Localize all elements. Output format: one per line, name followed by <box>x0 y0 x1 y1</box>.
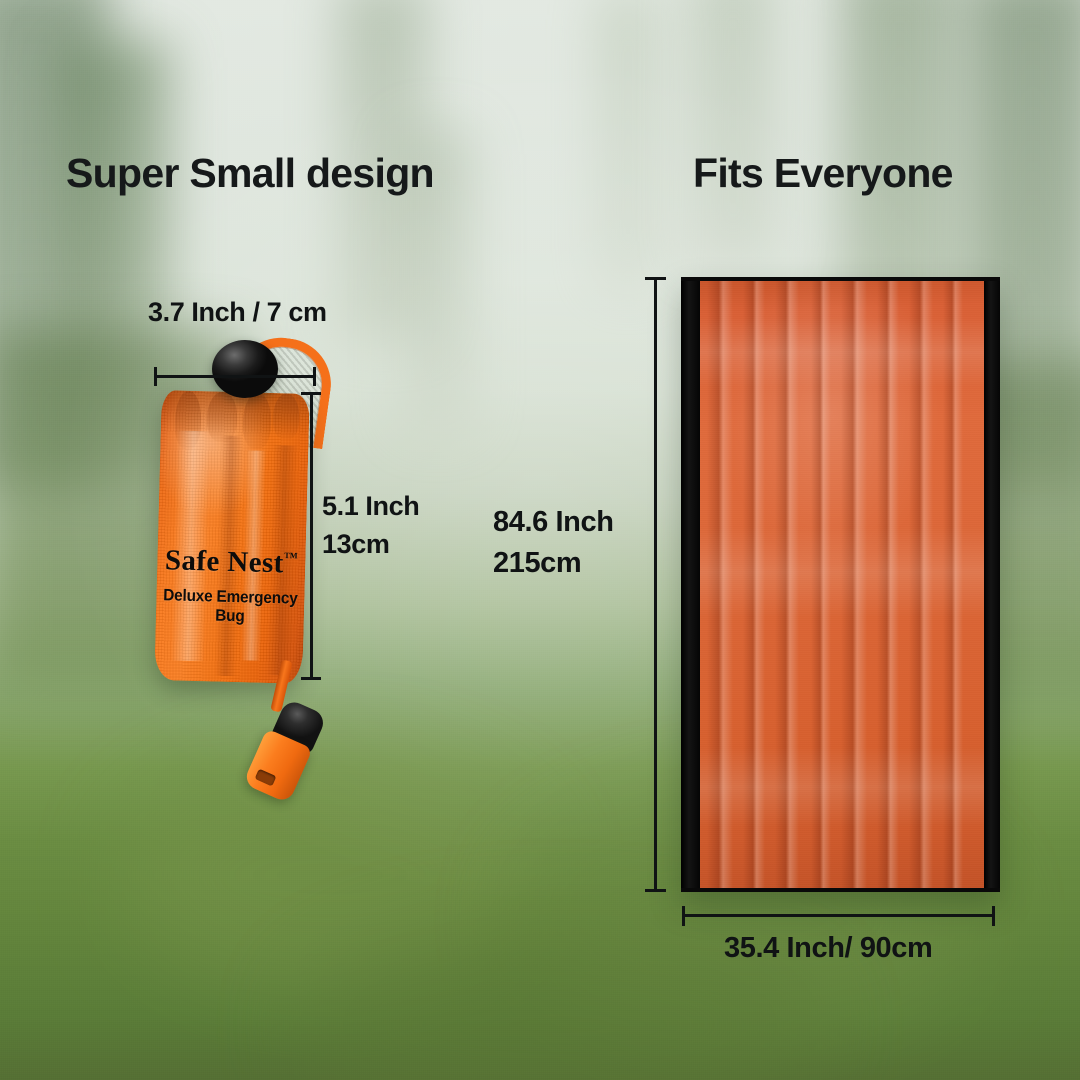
sleeping-bag-height-label: 84.6 Inch 215cm <box>493 502 614 584</box>
sleeping-bag-width-rule <box>682 914 995 917</box>
sack-height-rule <box>310 392 313 680</box>
sleeping-bag-height-label-cm: 215cm <box>493 543 614 584</box>
sack-width-rule <box>154 375 316 378</box>
cord-lock-toggle <box>212 340 278 398</box>
sack-height-rule-cap-bottom <box>301 677 321 680</box>
sleeping-bag-edge-left <box>681 277 700 892</box>
sack-width-label: 3.7 Inch / 7 cm <box>148 293 327 331</box>
sleeping-bag-top-seam <box>681 277 1000 281</box>
page-title-right: Fits Everyone <box>693 150 953 197</box>
page-title-left: Super Small design <box>66 150 434 197</box>
sack-height-label: 5.1 Inch 13cm <box>322 487 419 564</box>
sleeping-bag-height-rule-cap-bottom <box>645 889 666 892</box>
sleeping-bag-width-label: 35.4 Inch/ 90cm <box>724 928 932 969</box>
sleeping-bag-height-label-inches: 84.6 Inch <box>493 502 614 543</box>
emergency-whistle <box>241 695 331 805</box>
sack-height-label-inches: 5.1 Inch <box>322 487 419 525</box>
sleeping-bag-bottom-seam <box>681 888 1000 892</box>
emergency-sleeping-bag <box>681 277 1000 892</box>
sack-width-rule-cap-left <box>154 367 157 386</box>
sack-body: Safe Nest™ Deluxe Emergency Bug <box>154 390 310 684</box>
sleeping-bag-texture <box>699 277 984 892</box>
product-infographic: Super Small design Fits Everyone Safe Ne… <box>0 0 1080 1080</box>
sack-height-label-cm: 13cm <box>322 525 419 563</box>
sack-height-rule-cap-top <box>301 392 321 395</box>
sleeping-bag-face <box>699 277 984 892</box>
sack-fabric-weave <box>154 390 310 684</box>
sleeping-bag-edge-right <box>984 277 1000 892</box>
sleeping-bag-width-rule-cap-left <box>682 906 685 926</box>
sleeping-bag-height-rule <box>654 277 657 892</box>
sleeping-bag-height-rule-cap-top <box>645 277 666 280</box>
sack-width-rule-cap-right <box>313 367 316 386</box>
sleeping-bag-width-rule-cap-right <box>992 906 995 926</box>
